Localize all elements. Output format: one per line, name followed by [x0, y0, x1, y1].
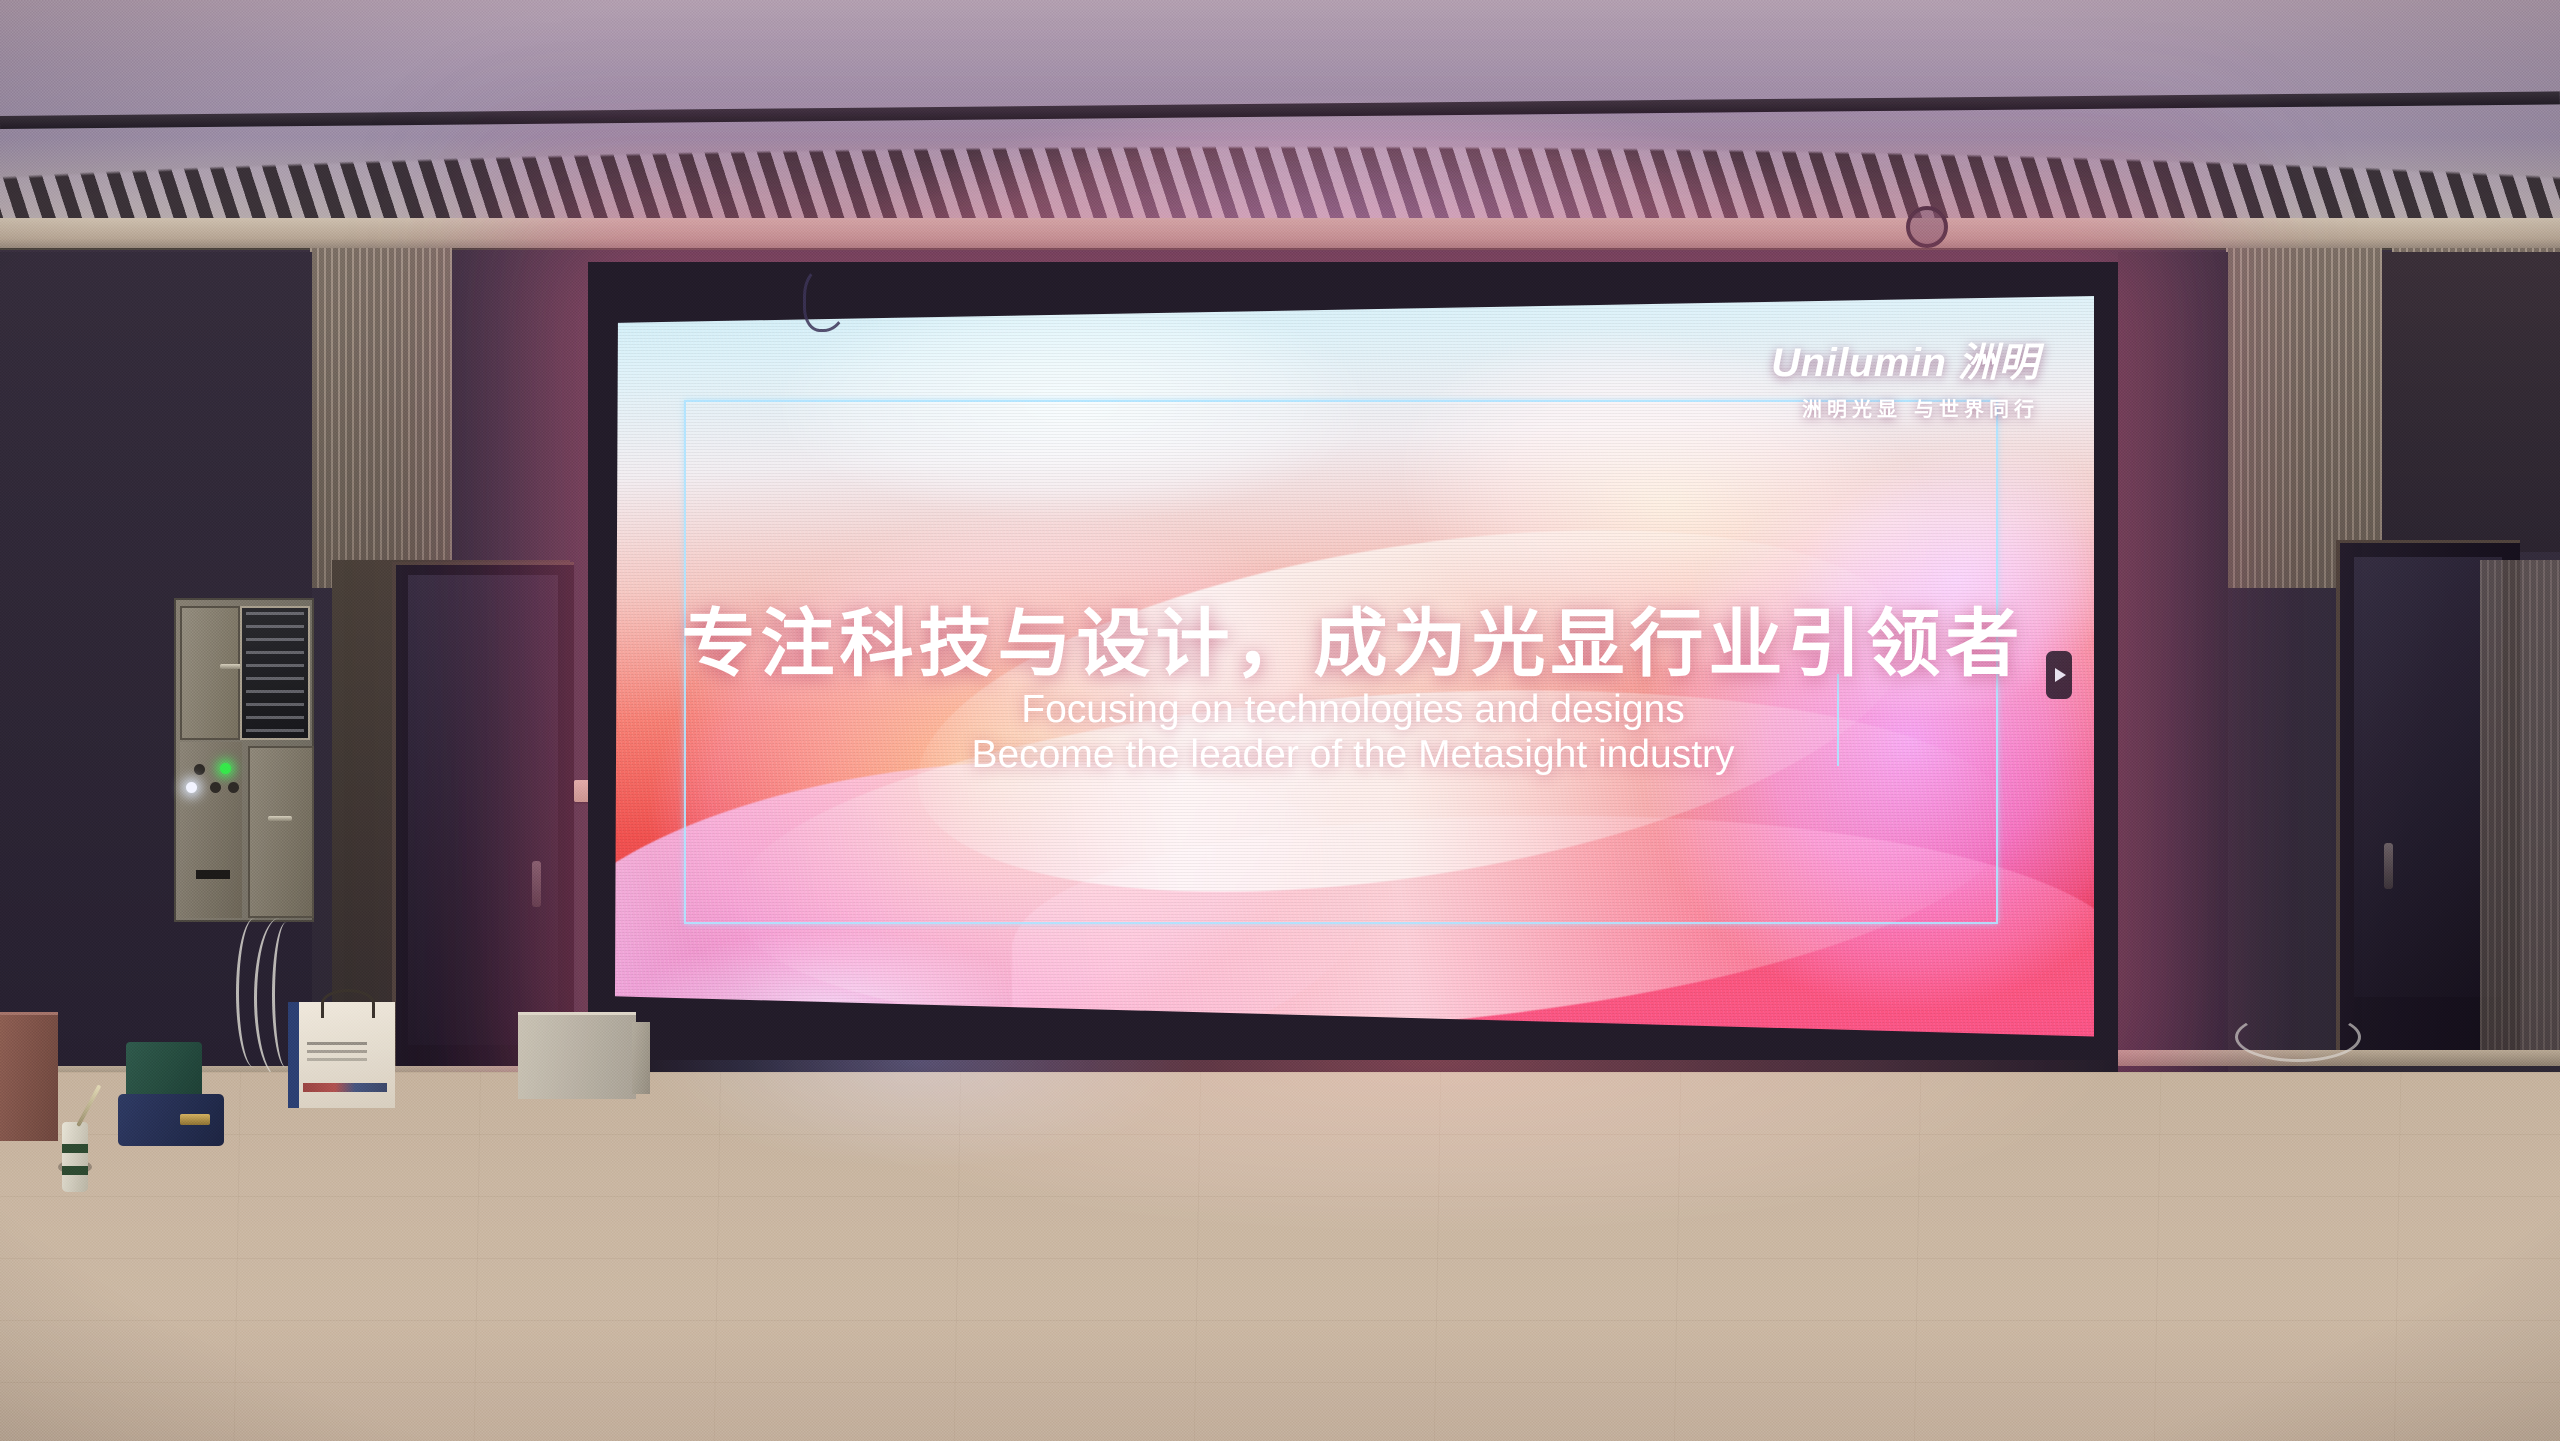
logo-wordmark: Unilumin 洲明 [1771, 330, 2039, 388]
indicator-lamp-green [220, 763, 231, 774]
cardboard-box [0, 1012, 58, 1141]
cabinet-breaker-rows [246, 612, 304, 734]
floor-cable-right [2235, 1012, 2361, 1062]
unilumin-logo: Unilumin 洲明 洲明光显 与世界同行 [1771, 330, 2039, 422]
electrical-control-cabinet[interactable] [174, 598, 314, 922]
cabinet-indicator-panel [180, 742, 242, 918]
logo-tagline: 洲明光显 与世界同行 [1771, 393, 2039, 422]
indicator-lamp-off [194, 764, 205, 775]
wall-wood-panel-corner [2480, 560, 2560, 1060]
paper-bag-print [307, 1042, 367, 1045]
green-tool-case [126, 1042, 202, 1098]
tool-case-clasp [180, 1114, 210, 1125]
spray-bottle [62, 1122, 88, 1192]
floor-blue-glow [540, 1060, 1300, 1310]
ceiling-soffit [0, 218, 2560, 252]
cabinet-lower-handle[interactable] [268, 816, 292, 821]
wall-wood-panel-right [2226, 248, 2382, 588]
wall-wood-panel-left [310, 248, 452, 588]
ceiling [0, 0, 2560, 250]
wall-acoustic-panel-far-right [2382, 252, 2560, 552]
blue-tool-case [118, 1094, 224, 1146]
door-left-handle[interactable] [532, 861, 541, 907]
room-scene: Unilumin 洲明 洲明光显 与世界同行 专注科技与设计，成为光显行业引领者… [0, 0, 2560, 1441]
door-left[interactable] [392, 562, 574, 1083]
logo-latin: Unilumin [1771, 341, 1946, 385]
ceiling-screen-glow [700, 0, 2000, 250]
play-icon[interactable] [2046, 651, 2072, 699]
door-right-handle[interactable] [2384, 843, 2393, 889]
indicator-lamp-white [186, 782, 197, 793]
led-video-wall[interactable]: Unilumin 洲明 洲明光显 与世界同行 专注科技与设计，成为光显行业引领者… [588, 262, 2118, 1072]
paper-bag-stripe [303, 1083, 387, 1092]
logo-chinese: 洲明 [1958, 341, 2039, 385]
bottle-band-2 [62, 1166, 88, 1175]
paper-bag-handle [321, 989, 375, 1018]
cabinet-upper-door[interactable] [180, 606, 240, 740]
wall-acoustic-panel-right [2118, 252, 2228, 1082]
indicator-lamp-off-3 [228, 782, 239, 793]
grey-carton [518, 1012, 636, 1099]
cabinet-nameplate [196, 870, 230, 879]
ceiling-speaker-icon [1906, 206, 1948, 248]
led-subline-1: Focusing on technologies and designs [612, 688, 2094, 732]
grey-carton-side [632, 1022, 650, 1094]
cabinet-window [240, 606, 310, 740]
cabinet-lower-door[interactable] [248, 746, 314, 918]
led-subline-2: Become the leader of the Metasight indus… [612, 733, 2094, 777]
door-left-glass [408, 575, 558, 1045]
bottle-band-1 [62, 1144, 88, 1153]
indicator-lamp-off-2 [210, 782, 221, 793]
led-screen-surface[interactable]: Unilumin 洲明 洲明光显 与世界同行 专注科技与设计，成为光显行业引领者… [612, 296, 2094, 1041]
led-headline: 专注科技与设计，成为光显行业引领者 [612, 584, 2094, 691]
paper-shopping-bag [288, 1002, 395, 1108]
play-triangle [2055, 668, 2066, 682]
